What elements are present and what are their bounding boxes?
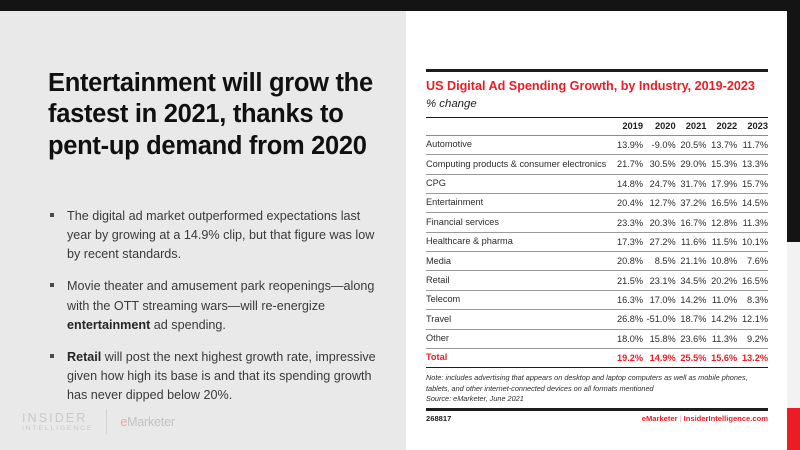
cell-2022: 11.3% — [706, 329, 737, 348]
row-label: Travel — [426, 310, 612, 329]
cell-2022: 16.5% — [706, 193, 737, 212]
slide-left-pane: Entertainment will grow the fastest in 2… — [0, 11, 406, 450]
cell-2023: 11.3% — [737, 213, 768, 232]
cell-2021: 14.2% — [676, 290, 707, 309]
chart-card: US Digital Ad Spending Growth, by Indust… — [426, 69, 768, 423]
cell-2020: -51.0% — [643, 310, 676, 329]
chart-source: Source: eMarketer, June 2021 — [426, 394, 768, 404]
bullet-emphasis: entertainment — [67, 318, 150, 332]
column-header-2023: 2023 — [737, 117, 768, 135]
bullet-text: The digital ad market outperformed expec… — [67, 209, 374, 261]
bullet-square-icon — [50, 213, 54, 217]
cell-2021: 25.5% — [676, 348, 707, 367]
chart-brand: eMarketer|InsiderIntelligence.com — [642, 414, 768, 423]
table-row: Entertainment20.4%12.7%37.2%16.5%14.5% — [426, 193, 768, 212]
cell-2022: 15.3% — [706, 155, 737, 174]
column-header-category — [426, 117, 612, 135]
table-row: Healthcare & pharma17.3%27.2%11.6%11.5%1… — [426, 232, 768, 251]
chart-id: 268817 — [426, 414, 451, 423]
table-row: Telecom16.3%17.0%14.2%11.0%8.3% — [426, 290, 768, 309]
bullet-span: Movie theater and amusement park reopeni… — [67, 279, 374, 312]
bullet-emphasis: Retail — [67, 350, 101, 364]
table-row: Computing products & consumer electronic… — [426, 155, 768, 174]
table-row: Automotive13.9%-9.0%20.5%13.7%11.7% — [426, 135, 768, 154]
cell-2020: 20.3% — [643, 213, 676, 232]
cell-2020: 12.7% — [643, 193, 676, 212]
bullet-square-icon — [50, 354, 54, 358]
cell-2019: 20.8% — [612, 252, 643, 271]
insider-intelligence-logo-line1: INSIDER — [22, 411, 93, 425]
table-row: Financial services23.3%20.3%16.7%12.8%11… — [426, 213, 768, 232]
cell-2021: 23.6% — [676, 329, 707, 348]
cell-2021: 37.2% — [676, 193, 707, 212]
cell-2021: 18.7% — [676, 310, 707, 329]
cell-2023: 8.3% — [737, 290, 768, 309]
row-label: Computing products & consumer electronic… — [426, 155, 612, 174]
table-row: CPG14.8%24.7%31.7%17.9%15.7% — [426, 174, 768, 193]
row-label: Healthcare & pharma — [426, 232, 612, 251]
cell-2020: 17.0% — [643, 290, 676, 309]
viewer-chrome-top — [0, 0, 800, 11]
data-table: 20192020202120222023 Automotive13.9%-9.0… — [426, 117, 768, 369]
cell-2019: 19.2% — [612, 348, 643, 367]
table-row: Other18.0%15.8%23.6%11.3%9.2% — [426, 329, 768, 348]
chart-subtitle: % change — [426, 98, 768, 110]
cell-2023: 13.3% — [737, 155, 768, 174]
cell-2023: 10.1% — [737, 232, 768, 251]
table-header-row: 20192020202120222023 — [426, 117, 768, 135]
cell-2022: 11.0% — [706, 290, 737, 309]
viewer-chrome-right — [787, 0, 800, 242]
insider-intelligence-logo: INSIDER INTELLIGENCE — [22, 411, 93, 433]
bullet-span: ad spending. — [150, 318, 226, 332]
cell-2022: 10.8% — [706, 252, 737, 271]
page-title: Entertainment will grow the fastest in 2… — [48, 68, 378, 162]
row-label: Entertainment — [426, 193, 612, 212]
cell-2022: 17.9% — [706, 174, 737, 193]
table-row: Media20.8%8.5%21.1%10.8%7.6% — [426, 252, 768, 271]
cell-2020: 14.9% — [643, 348, 676, 367]
cell-2019: 26.8% — [612, 310, 643, 329]
table-row: Retail21.5%23.1%34.5%20.2%16.5% — [426, 271, 768, 290]
cell-2021: 29.0% — [676, 155, 707, 174]
row-label: Total — [426, 348, 612, 367]
chart-brand-emarketer: eMarketer — [642, 414, 678, 423]
cell-2023: 11.7% — [737, 135, 768, 154]
cell-2019: 16.3% — [612, 290, 643, 309]
card-top-rule — [426, 69, 768, 72]
cell-2019: 14.8% — [612, 174, 643, 193]
cell-2020: 23.1% — [643, 271, 676, 290]
emarketer-logo-rest: Marketer — [127, 415, 175, 429]
cell-2022: 14.2% — [706, 310, 737, 329]
column-header-2020: 2020 — [643, 117, 676, 135]
table-body: Automotive13.9%-9.0%20.5%13.7%11.7%Compu… — [426, 135, 768, 368]
viewer-chrome-right-lower — [787, 242, 800, 408]
cell-2019: 17.3% — [612, 232, 643, 251]
column-header-2021: 2021 — [676, 117, 707, 135]
row-label: Telecom — [426, 290, 612, 309]
table-row: Total19.2%14.9%25.5%15.6%13.2% — [426, 348, 768, 367]
cell-2019: 21.7% — [612, 155, 643, 174]
bullet-list: The digital ad market outperformed expec… — [48, 207, 378, 405]
cell-2020: -9.0% — [643, 135, 676, 154]
cell-2023: 14.5% — [737, 193, 768, 212]
brand-footer: INSIDER INTELLIGENCE eMarketer — [22, 409, 175, 434]
bullet-text: Retail will post the next highest growth… — [67, 350, 376, 402]
slide: Entertainment will grow the fastest in 2… — [0, 11, 787, 450]
bullet-item: The digital ad market outperformed expec… — [48, 207, 378, 264]
bullet-span: The digital ad market outperformed expec… — [67, 209, 374, 261]
cell-2023: 9.2% — [737, 329, 768, 348]
chart-note: Note: includes advertising that appears … — [426, 373, 768, 394]
cell-2022: 13.7% — [706, 135, 737, 154]
bullet-item: Retail will post the next highest growth… — [48, 348, 378, 405]
table-head: 20192020202120222023 — [426, 117, 768, 135]
bullet-item: Movie theater and amusement park reopeni… — [48, 277, 378, 334]
bullet-span: will post the next highest growth rate, … — [67, 350, 376, 402]
insider-intelligence-logo-line2: INTELLIGENCE — [22, 425, 93, 433]
cell-2021: 34.5% — [676, 271, 707, 290]
chart-title: US Digital Ad Spending Growth, by Indust… — [426, 79, 768, 95]
cell-2022: 15.6% — [706, 348, 737, 367]
viewer-accent-bar — [787, 408, 800, 450]
cell-2020: 27.2% — [643, 232, 676, 251]
cell-2022: 20.2% — [706, 271, 737, 290]
cell-2023: 16.5% — [737, 271, 768, 290]
cell-2023: 12.1% — [737, 310, 768, 329]
row-label: Financial services — [426, 213, 612, 232]
cell-2023: 7.6% — [737, 252, 768, 271]
column-header-2019: 2019 — [612, 117, 643, 135]
cell-2021: 16.7% — [676, 213, 707, 232]
bullet-text: Movie theater and amusement park reopeni… — [67, 279, 374, 331]
cell-2023: 15.7% — [737, 174, 768, 193]
row-label: Retail — [426, 271, 612, 290]
cell-2020: 8.5% — [643, 252, 676, 271]
cell-2019: 20.4% — [612, 193, 643, 212]
table-row: Travel26.8%-51.0%18.7%14.2%12.1% — [426, 310, 768, 329]
cell-2019: 13.9% — [612, 135, 643, 154]
cell-2021: 20.5% — [676, 135, 707, 154]
column-header-2022: 2022 — [706, 117, 737, 135]
cell-2020: 24.7% — [643, 174, 676, 193]
logo-divider — [106, 409, 107, 434]
chart-brand-insiderintelligence: InsiderIntelligence.com — [684, 414, 768, 423]
cell-2021: 11.6% — [676, 232, 707, 251]
row-label: Media — [426, 252, 612, 271]
cell-2022: 12.8% — [706, 213, 737, 232]
cell-2019: 23.3% — [612, 213, 643, 232]
cell-2019: 18.0% — [612, 329, 643, 348]
row-label: CPG — [426, 174, 612, 193]
cell-2023: 13.2% — [737, 348, 768, 367]
cell-2021: 31.7% — [676, 174, 707, 193]
slide-viewer: Entertainment will grow the fastest in 2… — [0, 0, 800, 450]
bullet-square-icon — [50, 283, 54, 287]
slide-right-pane: US Digital Ad Spending Growth, by Indust… — [406, 11, 787, 450]
cell-2020: 15.8% — [643, 329, 676, 348]
emarketer-logo: eMarketer — [120, 415, 174, 429]
cell-2022: 11.5% — [706, 232, 737, 251]
card-bottom-rule — [426, 408, 768, 410]
card-footer: 268817 eMarketer|InsiderIntelligence.com — [426, 414, 768, 423]
cell-2019: 21.5% — [612, 271, 643, 290]
row-label: Automotive — [426, 135, 612, 154]
row-label: Other — [426, 329, 612, 348]
cell-2020: 30.5% — [643, 155, 676, 174]
cell-2021: 21.1% — [676, 252, 707, 271]
